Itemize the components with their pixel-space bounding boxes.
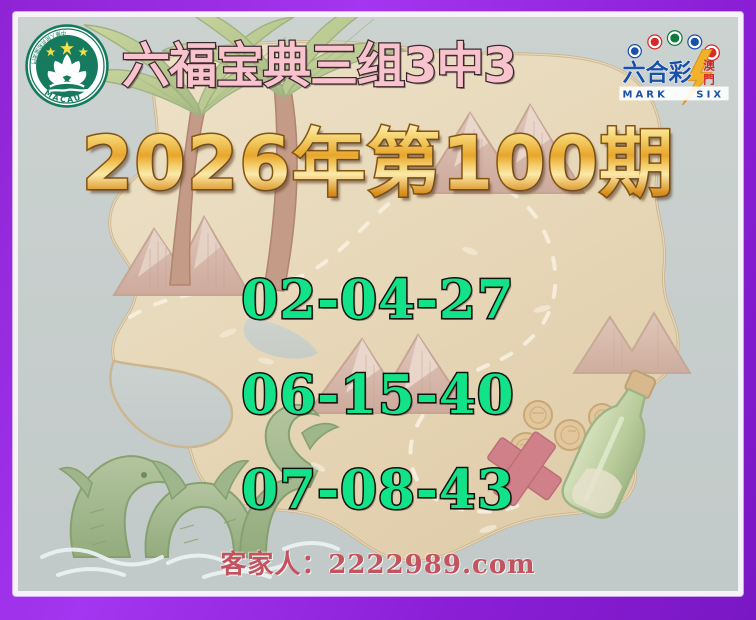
period-title: 2026年第100期 2026年第100期 <box>18 121 738 207</box>
draw-number-row-1: 02-04-27 <box>18 253 738 348</box>
period-title-text: 2026年第100期 <box>18 121 738 207</box>
marksix-region-text-1: 澳 <box>703 59 715 73</box>
marksix-region-text-2: 門 <box>703 72 715 86</box>
draw-numbers: 02-04-27 06-15-40 07-08-43 <box>18 253 738 538</box>
poster-header: 中華人民共和國澳門特別行政區 MACAU 六福宝典三组3中3 <box>18 17 738 103</box>
macau-sar-emblem-icon: 中華人民共和國澳門特別行政區 MACAU <box>24 23 110 109</box>
footer-site-text: 客家人：2222989.com <box>220 544 535 581</box>
page-title: 六福宝典三组3中3 <box>122 39 622 93</box>
marksix-latin-right: SIX <box>696 89 724 100</box>
mark-six-logo-icon: 六合彩 澳 門 MARK SIX <box>616 25 732 105</box>
artwork-canvas: 中華人民共和國澳門特別行政區 MACAU 六福宝典三组3中3 <box>18 17 738 591</box>
marksix-latin-left: MARK <box>622 89 667 100</box>
lottery-poster: 中華人民共和國澳門特別行政區 MACAU 六福宝典三组3中3 <box>0 0 756 620</box>
draw-number-row-2: 06-15-40 <box>18 348 738 443</box>
marksix-chinese-text: 六合彩 <box>622 59 691 86</box>
page-title-text: 六福宝典三组3中3 <box>122 38 516 94</box>
footer: 客家人：2222989.com <box>18 544 738 581</box>
draw-number-row-3: 07-08-43 <box>18 443 738 538</box>
